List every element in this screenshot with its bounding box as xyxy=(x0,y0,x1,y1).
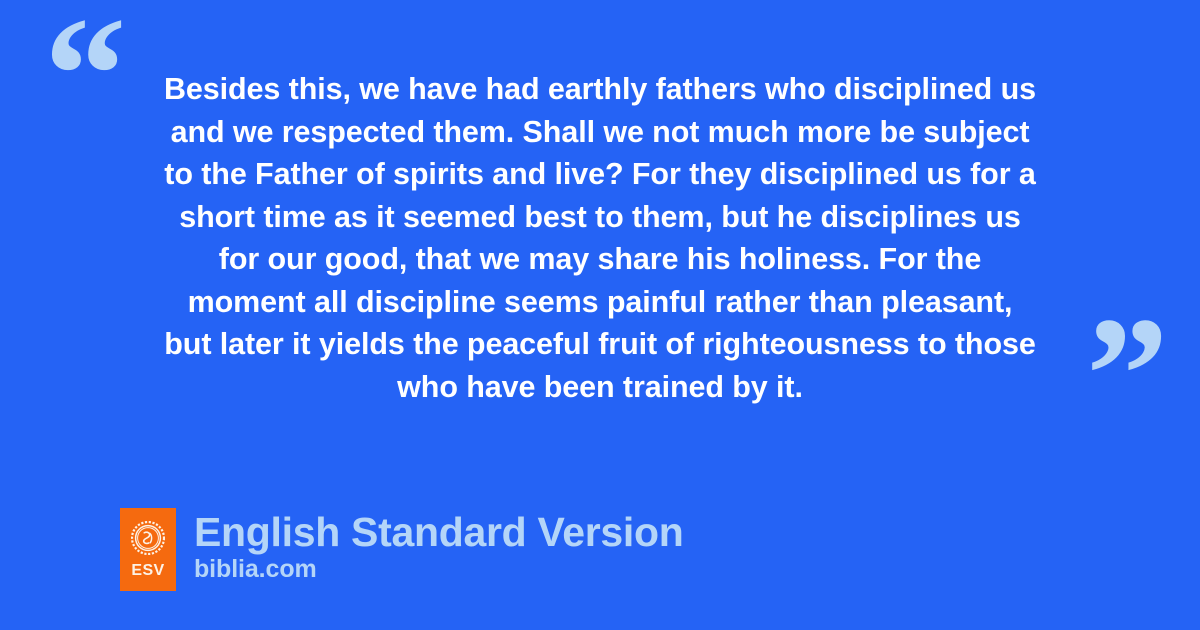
quote-text-block: Besides this, we have had earthly father… xyxy=(100,68,1100,408)
esv-logo[interactable]: ESV xyxy=(120,508,176,591)
quote-line: but later it yields the peaceful fruit o… xyxy=(100,323,1100,366)
site-url-label[interactable]: biblia.com xyxy=(194,555,683,583)
quote-card: “ Besides this, we have had earthly fath… xyxy=(0,0,1200,630)
esv-logo-abbreviation: ESV xyxy=(120,563,176,579)
quote-line: and we respected them. Shall we not much… xyxy=(100,111,1100,154)
attribution-block[interactable]: ESV English Standard Version biblia.com xyxy=(120,508,683,591)
quote-line: who have been trained by it. xyxy=(100,366,1100,409)
closing-quote-icon: ” xyxy=(1086,292,1167,457)
quote-line: Besides this, we have had earthly father… xyxy=(100,68,1100,111)
quote-line: to the Father of spirits and live? For t… xyxy=(100,153,1100,196)
bible-version-name: English Standard Version xyxy=(194,510,683,555)
quote-line: moment all discipline seems painful rath… xyxy=(100,281,1100,324)
quote-line: for our good, that we may share his holi… xyxy=(100,238,1100,281)
attribution-text: English Standard Version biblia.com xyxy=(194,508,683,583)
esv-circular-seal-icon xyxy=(131,521,165,555)
quote-line: short time as it seemed best to them, bu… xyxy=(100,196,1100,239)
